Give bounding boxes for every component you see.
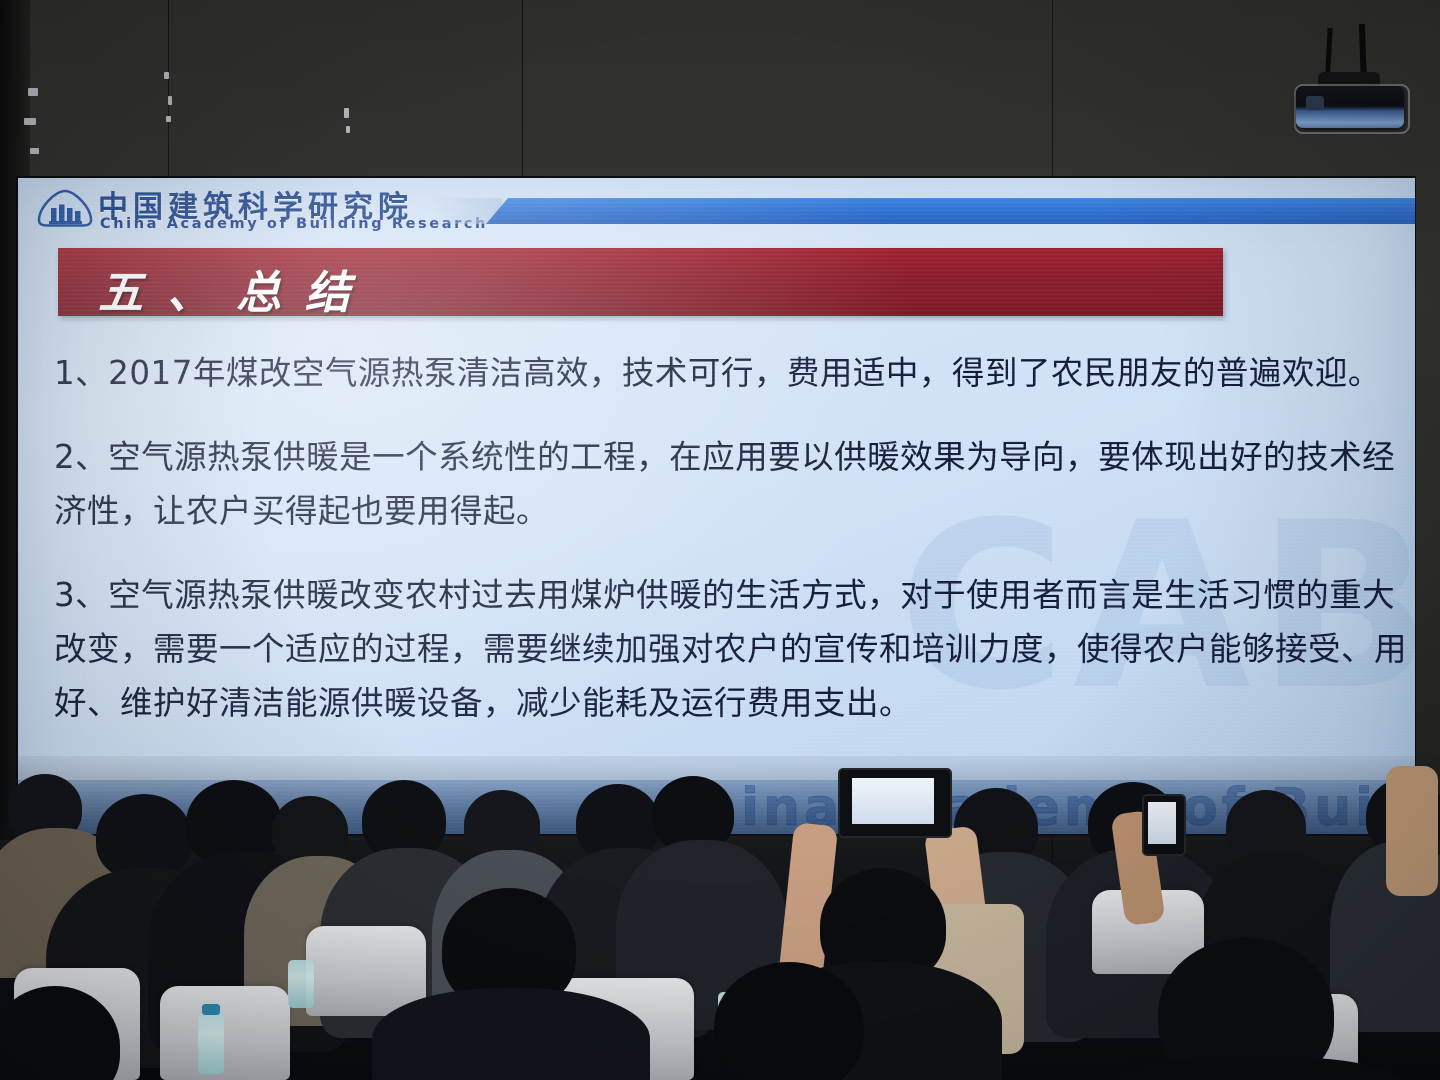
attendee-arm bbox=[1386, 766, 1438, 896]
slide-paragraph-1: 1、2017年煤改空气源热泵清洁高效，技术可行，费用适中，得到了农民朋友的普遍欢… bbox=[54, 346, 1415, 400]
wall-highlight bbox=[346, 126, 350, 133]
water-bottle bbox=[198, 1012, 224, 1074]
slide-title-banner: 五、总结 bbox=[58, 248, 1223, 316]
water-bottle bbox=[288, 960, 314, 1008]
slide-paragraph-2: 2、空气源热泵供暖是一个系统性的工程，在应用要以供暖效果为导向，要体现出好的技术… bbox=[54, 430, 1415, 538]
header-blue-band bbox=[486, 198, 1415, 224]
chair bbox=[160, 986, 290, 1080]
wall-highlight bbox=[344, 108, 349, 118]
smartphone-screen bbox=[852, 778, 934, 824]
slide-title: 五、总结 bbox=[98, 256, 374, 321]
smartphone-screen bbox=[1148, 802, 1176, 844]
slide-paragraph-3: 3、空气源热泵供暖改变农村过去用煤炉供暖的生活方式，对于使用者而言是生活习惯的重… bbox=[54, 568, 1415, 730]
wall-highlight bbox=[24, 118, 36, 125]
wall-highlight bbox=[166, 116, 171, 122]
attendee-body bbox=[372, 988, 650, 1080]
wall-highlight bbox=[28, 88, 38, 96]
conference-room-photo: CABR 中国建筑科学研究院 China Academy of Building… bbox=[0, 0, 1440, 1080]
wall-highlight bbox=[30, 148, 39, 154]
bottle-cap bbox=[202, 1004, 220, 1015]
slide-header: 中国建筑科学研究院 China Academy of Building Rese… bbox=[18, 178, 1415, 240]
attendee-head bbox=[714, 962, 864, 1080]
projection-screen: CABR 中国建筑科学研究院 China Academy of Building… bbox=[18, 178, 1415, 834]
wall-highlight bbox=[168, 96, 172, 105]
slide-body: 1、2017年煤改空气源热泵清洁高效，技术可行，费用适中，得到了农民朋友的普遍欢… bbox=[54, 346, 1415, 730]
cabr-logo-icon bbox=[36, 188, 94, 228]
projector-lens bbox=[1306, 96, 1324, 110]
audience-area bbox=[0, 756, 1440, 1080]
wall-highlight bbox=[164, 72, 169, 79]
